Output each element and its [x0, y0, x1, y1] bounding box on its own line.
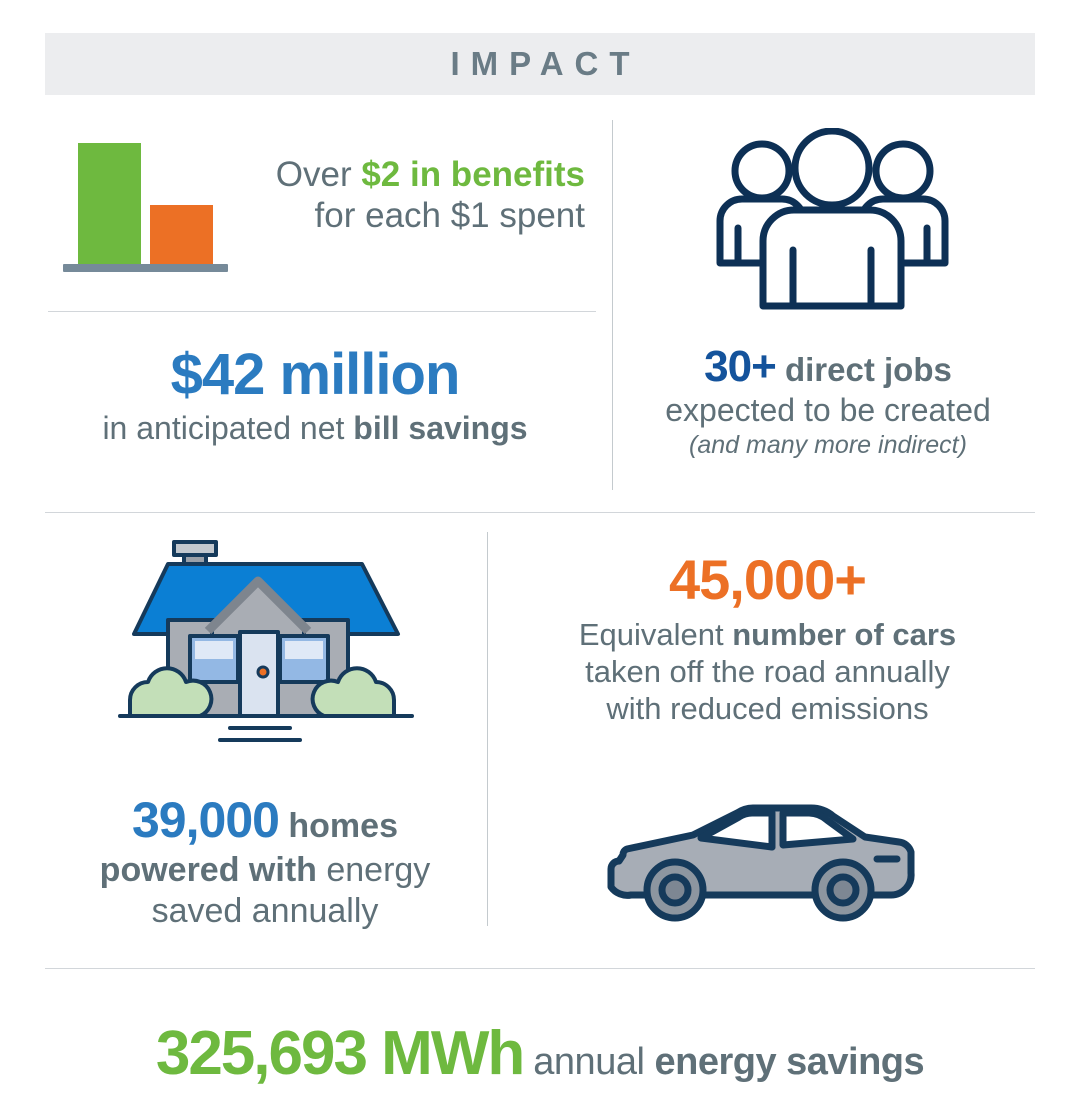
homes-number: 39,000 [132, 792, 279, 848]
bill-savings-stat: $42 million in anticipated net bill savi… [40, 346, 590, 447]
cars-subtitle: Equivalent number of cars taken off the … [500, 616, 1035, 728]
mwh-value: 325,693 MWh [156, 1019, 523, 1088]
divider-lower-mwh [45, 968, 1035, 969]
cars-off-road-stat: 45,000+ Equivalent number of cars taken … [500, 552, 1035, 728]
mwh-sub-bold: energy savings [654, 1041, 924, 1083]
million-sub-lead: in anticipated net [102, 410, 353, 446]
bar-spent [150, 205, 213, 265]
homes-line-3: saved annually [45, 891, 485, 932]
benefits-highlight: $2 in benefits [361, 155, 585, 194]
cars-number: 45,000+ [500, 552, 1035, 608]
homes-line-1: 39,000 homes [45, 790, 485, 850]
cars-line-3: with reduced emissions [606, 691, 928, 726]
bar-benefits [78, 143, 141, 265]
homes-label: homes [288, 807, 398, 845]
benefits-bar-chart [63, 140, 233, 272]
homes-bold-phrase: powered with [100, 851, 317, 889]
million-subtitle: in anticipated net bill savings [40, 410, 590, 447]
jobs-label: direct jobs [785, 351, 952, 388]
divider-upper-lower [45, 512, 1035, 513]
jobs-number: 30+ [704, 342, 776, 391]
jobs-line-3: (and many more indirect) [628, 431, 1028, 460]
cars-sub-lead: Equivalent [579, 617, 732, 652]
mwh-sub-lead: annual [523, 1041, 654, 1083]
mwh-savings-stat: 325,693 MWh annual energy savings [45, 1018, 1035, 1089]
divider-vertical-upper [612, 120, 613, 490]
benefits-lead: Over [276, 155, 362, 194]
homes-rest: energy [317, 851, 430, 889]
jobs-line-2: expected to be created [628, 392, 1028, 429]
cars-sub-bold: number of cars [732, 617, 956, 652]
chart-baseline [63, 264, 228, 272]
page-title: IMPACT [439, 45, 640, 83]
homes-powered-stat: 39,000 homes powered with energy saved a… [45, 790, 485, 932]
divider-benefits-million [48, 311, 596, 312]
benefits-statement: Over $2 in benefits for each $1 spent [240, 155, 585, 236]
benefits-line2: for each $1 spent [315, 196, 585, 235]
impact-header-bar: IMPACT [45, 33, 1035, 95]
million-sub-bold: bill savings [353, 410, 527, 446]
house-icon [112, 532, 422, 757]
divider-vertical-lower [487, 532, 488, 926]
direct-jobs-stat: 30+ direct jobs expected to be created (… [628, 342, 1028, 460]
car-icon [597, 795, 937, 930]
million-value: $42 million [40, 346, 590, 404]
infographic-canvas: IMPACT Over $2 in benefits for each $1 s… [0, 0, 1080, 1119]
people-group-icon [700, 128, 965, 313]
jobs-line-1: 30+ direct jobs [628, 342, 1028, 392]
cars-line-2: taken off the road annually [585, 654, 950, 689]
homes-line-2: powered with energy [45, 850, 485, 891]
